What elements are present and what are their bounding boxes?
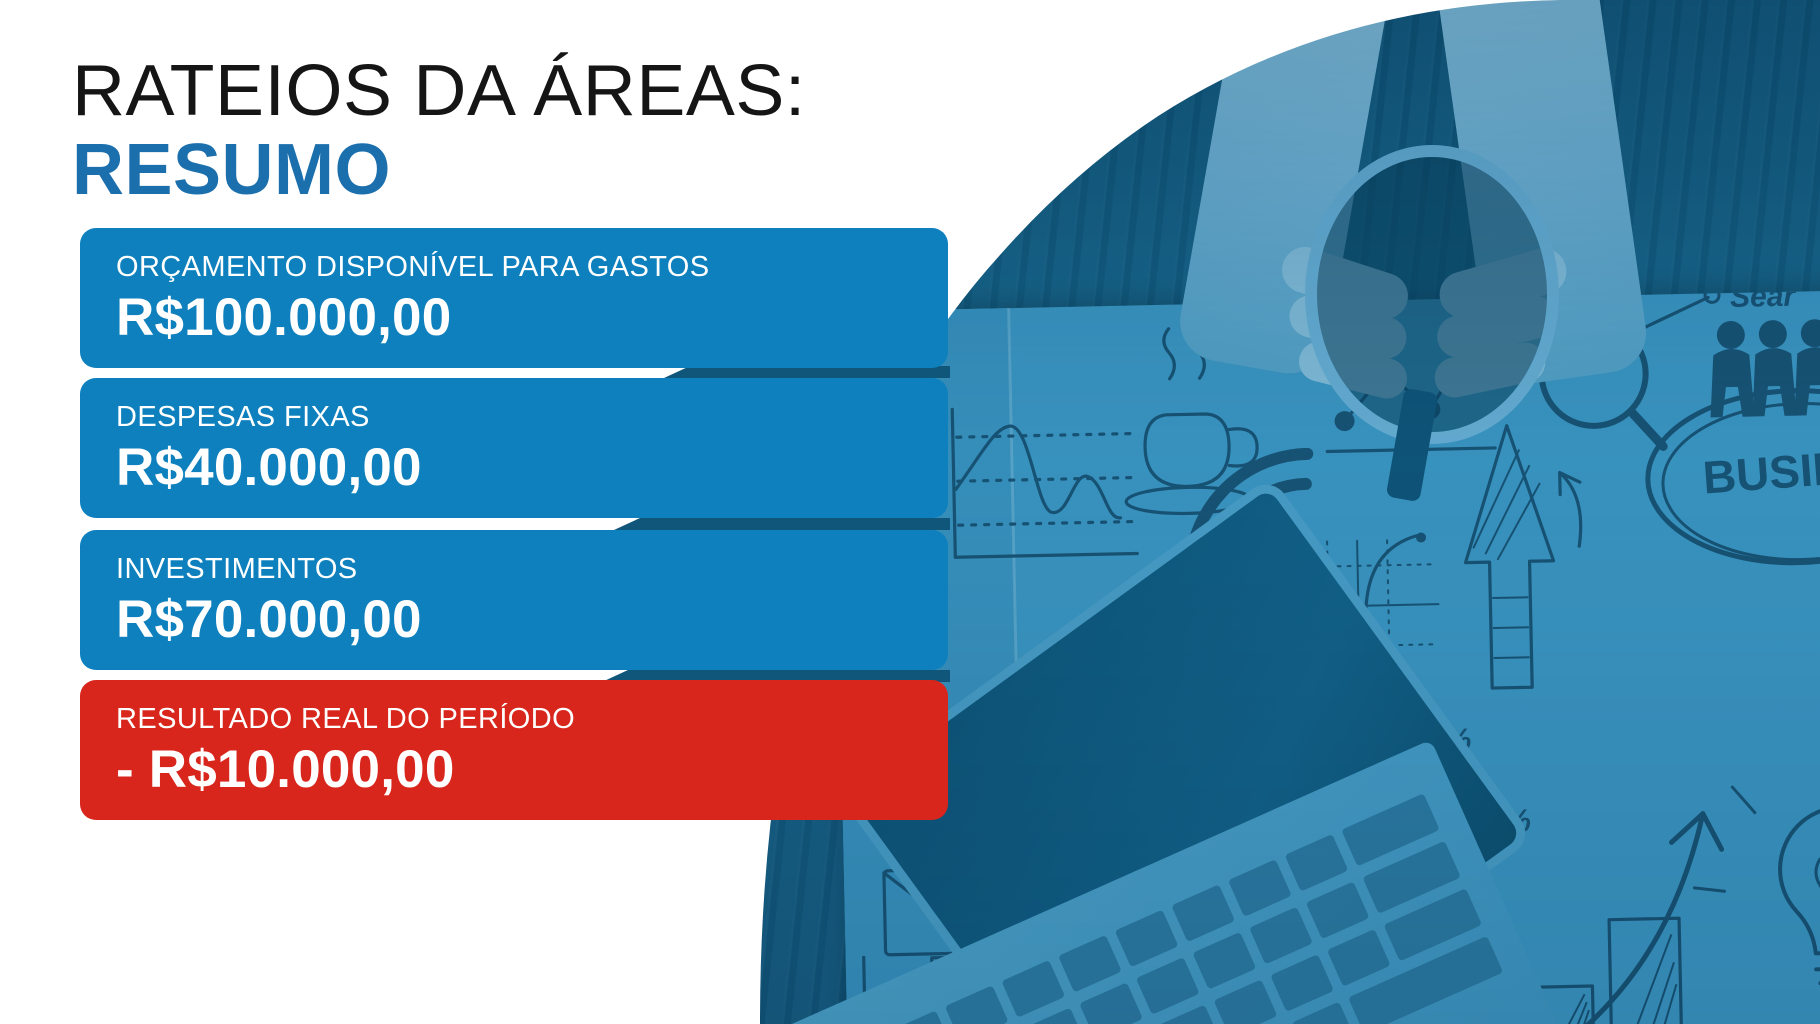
metric-card-investimentos[interactable]: INVESTIMENTOS R$70.000,00 xyxy=(80,530,948,670)
metric-card-label: INVESTIMENTOS xyxy=(116,552,948,586)
metric-card-label: RESULTADO REAL DO PERÍODO xyxy=(116,702,948,736)
title-line-secondary: RESUMO xyxy=(72,132,892,208)
metric-card-label: DESPESAS FIXAS xyxy=(116,400,948,434)
metric-card-value: R$70.000,00 xyxy=(116,590,948,650)
metric-card-value: - R$10.000,00 xyxy=(116,740,948,800)
metric-card-despesas-fixas[interactable]: DESPESAS FIXAS R$40.000,00 xyxy=(80,378,948,518)
metric-card-orcamento[interactable]: ORÇAMENTO DISPONÍVEL PARA GASTOS R$100.0… xyxy=(80,228,948,368)
title-line-primary: RATEIOS DA ÁREAS: xyxy=(72,52,908,130)
card-separator-shadow xyxy=(610,518,950,530)
slide-canvas: Sear BUSIN 20% xyxy=(0,0,1820,1024)
page-title: RATEIOS DA ÁREAS: RESUMO xyxy=(72,52,892,208)
card-separator xyxy=(80,518,640,530)
metric-card-resultado-real[interactable]: RESULTADO REAL DO PERÍODO - R$10.000,00 xyxy=(80,680,948,820)
metric-card-label: ORÇAMENTO DISPONÍVEL PARA GASTOS xyxy=(116,250,948,284)
metric-card-value: R$100.000,00 xyxy=(116,288,948,348)
metric-card-value: R$40.000,00 xyxy=(116,438,948,498)
